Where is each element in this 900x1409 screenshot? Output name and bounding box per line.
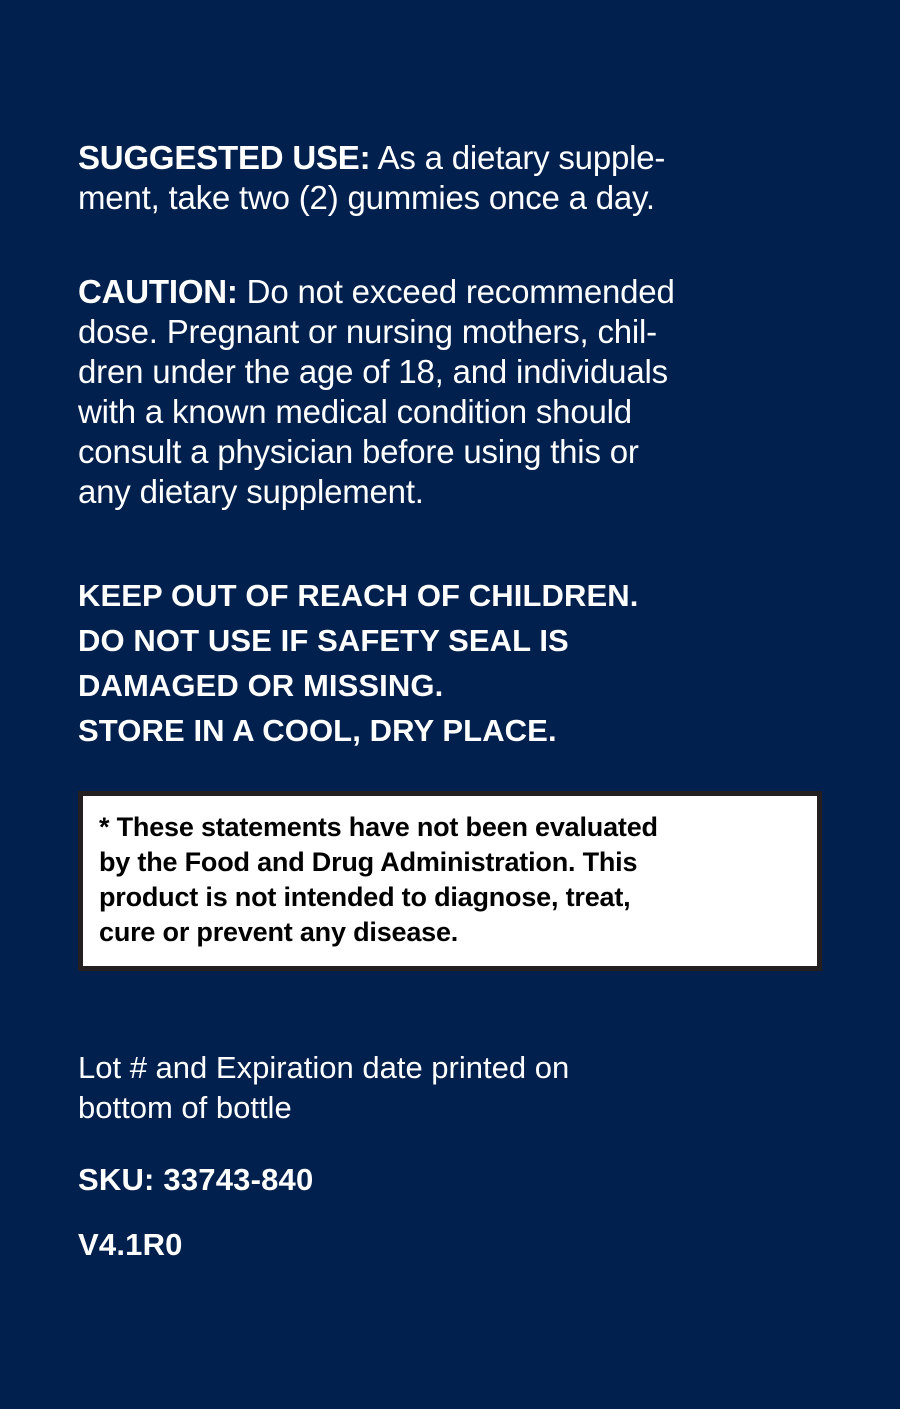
- fda-disclaimer-line-1: * These statements have not been evaluat…: [99, 810, 801, 845]
- lot-expiration-note: Lot # and Expiration date printed on bot…: [78, 1048, 838, 1128]
- caution-body-line-6: any dietary supplement.: [78, 472, 858, 512]
- fda-disclaimer-line-4: cure or prevent any disease.: [99, 915, 801, 950]
- caution-body-line-2: dose. Pregnant or nursing mothers, chil-: [78, 312, 858, 352]
- caution-section: CAUTION: Do not exceed recommended dose.…: [78, 272, 858, 512]
- caution-body-line-3: dren under the age of 18, and individual…: [78, 352, 858, 392]
- warnings-section: KEEP OUT OF REACH OF CHILDREN. DO NOT US…: [78, 573, 858, 753]
- supplement-label-panel: SUGGESTED USE: As a dietary supple- ment…: [0, 0, 900, 1409]
- caution-body-line-5: consult a physician before using this or: [78, 432, 858, 472]
- warning-safety-seal-2: DAMAGED OR MISSING.: [78, 663, 858, 708]
- warning-keep-out-of-reach: KEEP OUT OF REACH OF CHILDREN.: [78, 573, 858, 618]
- caution-body-line-1: Do not exceed recommended: [238, 273, 675, 310]
- suggested-use-section: SUGGESTED USE: As a dietary supple- ment…: [78, 138, 838, 218]
- sku-label: SKU: 33743-840: [78, 1160, 313, 1200]
- warning-safety-seal-1: DO NOT USE IF SAFETY SEAL IS: [78, 618, 858, 663]
- fda-disclaimer-line-3: product is not intended to diagnose, tre…: [99, 880, 801, 915]
- lot-note-line-1: Lot # and Expiration date printed on: [78, 1048, 838, 1088]
- fda-disclaimer-line-2: by the Food and Drug Administration. Thi…: [99, 845, 801, 880]
- suggested-use-body-line-1: As a dietary supple-: [370, 139, 665, 176]
- suggested-use-body-line-2: ment, take two (2) gummies once a day.: [78, 178, 838, 218]
- caution-body-line-4: with a known medical condition should: [78, 392, 858, 432]
- version-code-label: V4.1R0: [78, 1225, 183, 1265]
- suggested-use-first-line: SUGGESTED USE: As a dietary supple-: [78, 138, 838, 178]
- caution-first-line: CAUTION: Do not exceed recommended: [78, 272, 858, 312]
- caution-heading: CAUTION:: [78, 273, 238, 310]
- lot-note-line-2: bottom of bottle: [78, 1088, 838, 1128]
- fda-disclaimer-box: * These statements have not been evaluat…: [78, 791, 822, 971]
- fda-disclaimer-text: * These statements have not been evaluat…: [99, 810, 801, 950]
- suggested-use-heading: SUGGESTED USE:: [78, 139, 370, 176]
- warning-storage: STORE IN A COOL, DRY PLACE.: [78, 708, 858, 753]
